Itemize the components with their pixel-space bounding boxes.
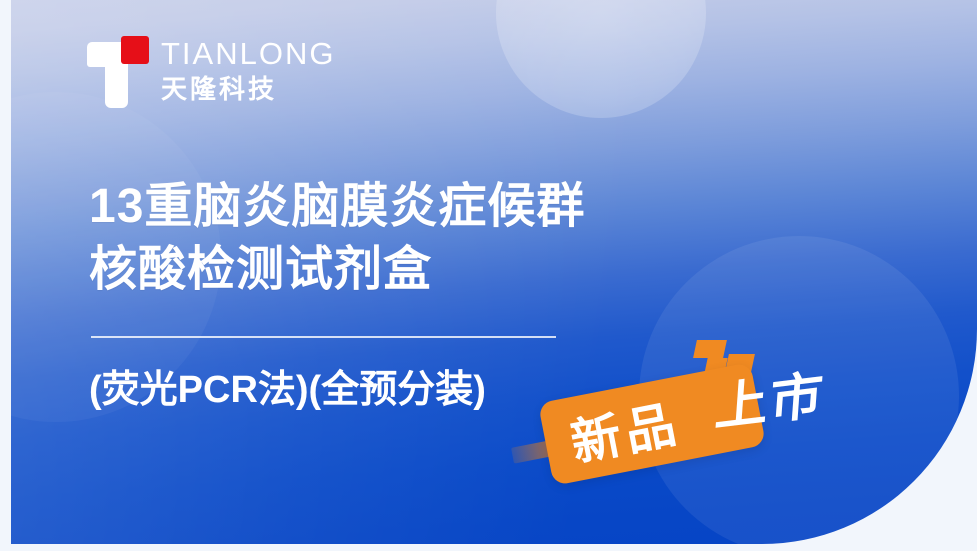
tianlong-logo-mark-icon [87,36,149,108]
bottom-edge-strip [0,544,977,551]
logo-mark-red-square [121,36,149,64]
spark-block-a [693,340,727,358]
headline-divider [91,336,556,338]
subtitle-method: (荧光PCR法)(全预分装) [89,358,486,413]
brand-logo-text: TIANLONG 天隆科技 [161,36,335,105]
badge-sub-label: 上市 [713,360,828,445]
headline: 13重脑炎脑膜炎症候群 核酸检测试剂盒 [89,175,585,302]
headline-line-2: 核酸检测试剂盒 [89,238,585,301]
decorative-circle-small [496,0,706,118]
brand-name-chinese: 天隆科技 [161,73,335,106]
brand-name-english: TIANLONG [161,38,335,71]
blue-gradient-panel: TIANLONG 天隆科技 13重脑炎脑膜炎症候群 核酸检测试剂盒 (荧光PCR… [11,0,977,544]
brand-logo: TIANLONG 天隆科技 [87,36,335,108]
new-product-badge: 新品 上市 [536,330,876,490]
headline-line-1: 13重脑炎脑膜炎症候群 [89,175,585,238]
product-banner: TIANLONG 天隆科技 13重脑炎脑膜炎症候群 核酸检测试剂盒 (荧光PCR… [0,0,977,551]
